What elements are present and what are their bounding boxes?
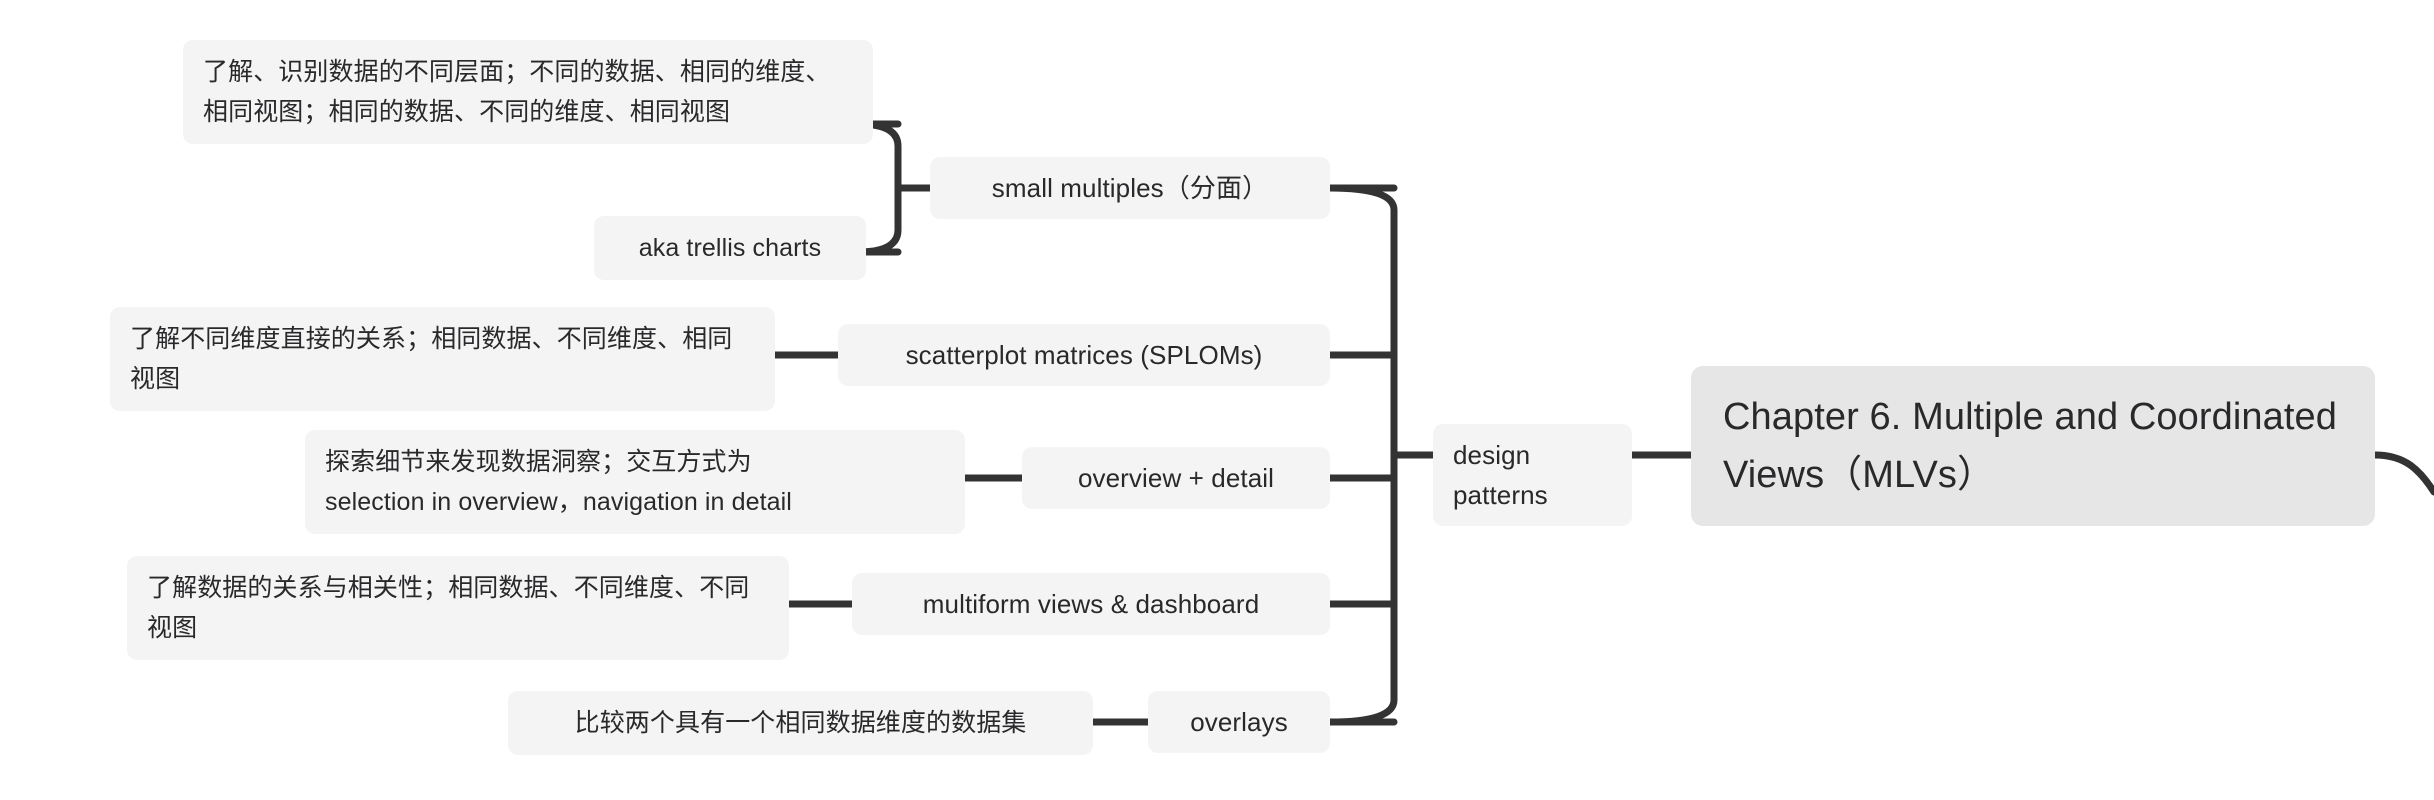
branch-node-splom[interactable]: scatterplot matrices (SPLOMs)	[838, 324, 1330, 386]
detail-text: 比较两个具有一个相同数据维度的数据集	[575, 703, 1027, 743]
mindmap-canvas: 了解、识别数据的不同层面；不同的数据、相同的维度、相同视图；相同的数据、不同的维…	[0, 0, 2434, 800]
detail-node-trellis[interactable]: aka trellis charts	[594, 216, 866, 280]
detail-node-small-multiples[interactable]: 了解、识别数据的不同层面；不同的数据、相同的维度、相同视图；相同的数据、不同的维…	[183, 40, 873, 144]
branch-label: overview + detail	[1078, 458, 1274, 498]
branch-node-small-multiples[interactable]: small multiples（分面）	[930, 157, 1330, 219]
branch-node-multiform[interactable]: multiform views & dashboard	[852, 573, 1330, 635]
connector-spine	[1330, 188, 1394, 722]
branch-label: scatterplot matrices (SPLOMs)	[906, 335, 1263, 375]
branch-label: multiform views & dashboard	[923, 584, 1260, 624]
detail-text: 了解数据的关系与相关性；相同数据、不同维度、不同视图	[147, 568, 769, 648]
detail-text: 了解、识别数据的不同层面；不同的数据、相同的维度、相同视图；相同的数据、不同的维…	[203, 52, 853, 132]
detail-node-splom[interactable]: 了解不同维度直接的关系；相同数据、不同维度、相同视图	[110, 307, 775, 411]
detail-node-overlays[interactable]: 比较两个具有一个相同数据维度的数据集	[508, 691, 1093, 755]
detail-text: 了解不同维度直接的关系；相同数据、不同维度、相同视图	[130, 319, 755, 399]
connector-root-right	[2375, 455, 2434, 492]
branch-label: overlays	[1190, 702, 1288, 742]
branch-node-overlays[interactable]: overlays	[1148, 691, 1330, 753]
hub-label: design patterns	[1453, 435, 1612, 515]
hub-node-design-patterns[interactable]: design patterns	[1433, 424, 1632, 526]
detail-node-multiform[interactable]: 了解数据的关系与相关性；相同数据、不同维度、不同视图	[127, 556, 789, 660]
root-node-chapter[interactable]: Chapter 6. Multiple and Coordinated View…	[1691, 366, 2375, 526]
detail-node-overview-detail[interactable]: 探索细节来发现数据洞察；交互方式为 selection in overview，…	[305, 430, 965, 534]
root-label: Chapter 6. Multiple and Coordinated View…	[1723, 388, 2343, 504]
branch-node-overview-detail[interactable]: overview + detail	[1022, 447, 1330, 509]
detail-text: 探索细节来发现数据洞察；交互方式为 selection in overview，…	[325, 442, 792, 522]
detail-text: aka trellis charts	[639, 228, 821, 268]
branch-label: small multiples（分面）	[992, 168, 1268, 208]
